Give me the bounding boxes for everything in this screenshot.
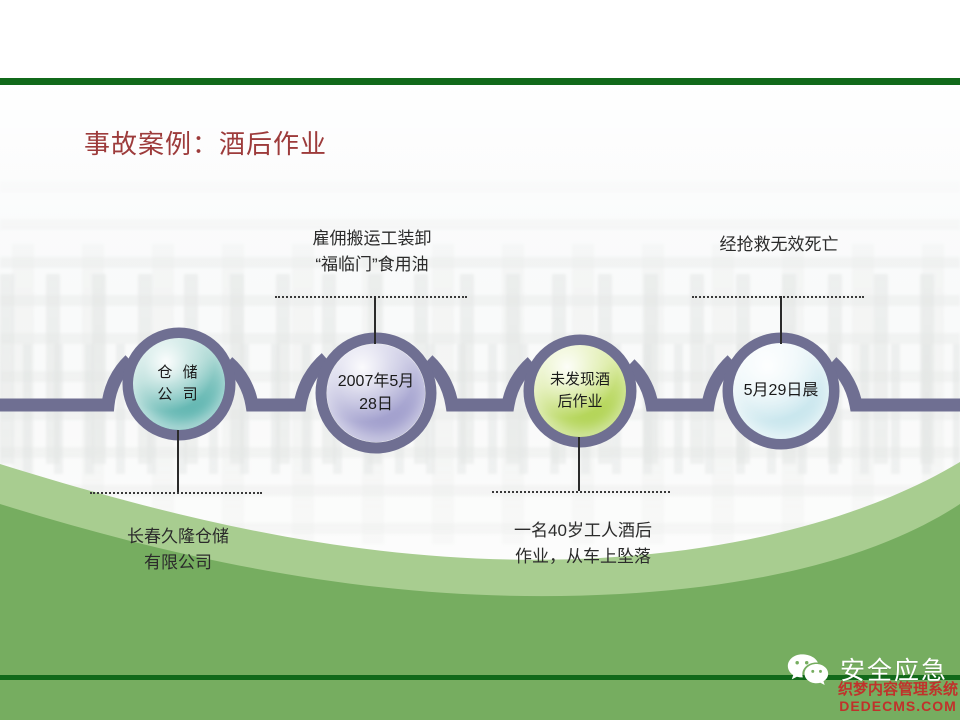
callout-top-1-text: 雇佣搬运工装卸 “福临门”食用油 — [256, 226, 488, 279]
timeline-node-2[interactable]: 2007年5月 28日 — [327, 344, 425, 442]
watermark-en: DEDECMS.COM — [838, 698, 958, 714]
callout-top-2-leader-line — [692, 296, 864, 298]
watermark: 织梦内容管理系统 DEDECMS.COM — [838, 681, 958, 714]
top-green-rule — [0, 78, 960, 85]
callout-bottom-2-text: 一名40岁工人酒后 作业，从车上坠落 — [470, 518, 696, 571]
callout-top-2-stem — [780, 296, 782, 344]
timeline-node-3[interactable]: 未发现酒 后作业 — [534, 345, 626, 437]
wechat-icon — [786, 652, 830, 686]
timeline-node-3-label: 未发现酒 后作业 — [546, 369, 614, 413]
callout-bottom-2-stem — [578, 437, 580, 491]
timeline-node-4[interactable]: 5月29日晨 — [733, 343, 829, 439]
callout-top-1-stem — [374, 296, 376, 344]
callout-bottom-2-leader-line — [492, 491, 670, 493]
slide: 事故案例：酒后作业 仓 储 公 司 — [0, 0, 960, 720]
callout-top-2-text: 经抢救无效死亡 — [668, 232, 890, 258]
callout-bottom-1-text: 长春久隆仓储 有限公司 — [72, 524, 284, 577]
callout-bottom-1-stem — [177, 430, 179, 492]
watermark-cn: 织梦内容管理系统 — [838, 681, 958, 698]
timeline-node-4-label: 5月29日晨 — [740, 379, 823, 402]
callout-top-1-leader-line — [275, 296, 467, 298]
timeline-node-1-label: 仓 储 公 司 — [153, 362, 204, 406]
timeline-node-1[interactable]: 仓 储 公 司 — [133, 338, 225, 430]
page-title: 事故案例：酒后作业 — [84, 129, 327, 160]
timeline-node-2-label: 2007年5月 28日 — [334, 370, 419, 416]
callout-bottom-1-leader-line — [90, 492, 262, 494]
